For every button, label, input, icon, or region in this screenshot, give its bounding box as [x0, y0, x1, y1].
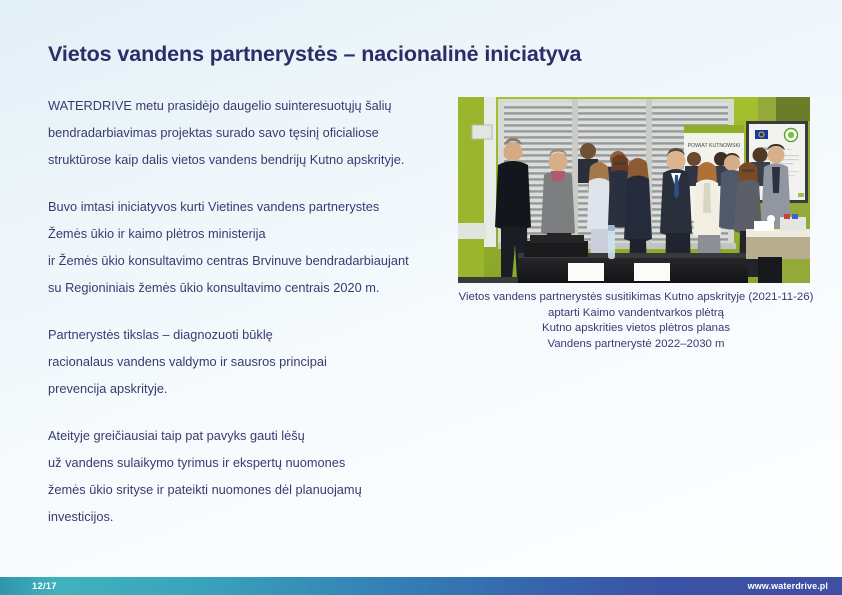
text-line: už vandens sulaikymo tyrimus ir ekspertų… — [48, 449, 448, 476]
text-line: struktūrose kaip dalis vietos vandens be… — [48, 146, 448, 173]
body-text-column: WATERDRIVE metu prasidėjo daugelio suint… — [48, 92, 448, 530]
text-line: WATERDRIVE metu prasidėjo daugelio suint… — [48, 92, 448, 119]
paragraph-1: WATERDRIVE metu prasidėjo daugelio suint… — [48, 92, 448, 173]
text-line: racionalaus vandens valdymo ir sausros p… — [48, 348, 448, 375]
text-line: prevencija apskrityje. — [48, 375, 448, 402]
text-line: Partnerystės tikslas – diagnozuoti būklę — [48, 321, 448, 348]
slide-footer: 12/17 www.waterdrive.pl — [0, 577, 842, 595]
text-line: žemės ūkio srityse ir pateikti nuomones … — [48, 476, 448, 503]
page-title: Vietos vandens partnerystės – nacionalin… — [48, 42, 768, 68]
paragraph-2: Buvo imtasi iniciatyvos kurti Vietines v… — [48, 193, 448, 301]
text-line: Žemės ūkio ir kaimo plėtros ministerija — [48, 220, 448, 247]
photo-canvas: POWIAT KUTNOWSKI Operacja pn. .... — [458, 97, 810, 283]
text-line: ir Žemės ūkio konsultavimo centras Brvin… — [48, 247, 448, 274]
photo-illustration: POWIAT KUTNOWSKI Operacja pn. .... — [458, 97, 810, 283]
text-line: Buvo imtasi iniciatyvos kurti Vietines v… — [48, 193, 448, 220]
text-line: investicijos. — [48, 503, 448, 530]
caption-line: Vandens partnerystė 2022–2030 m — [430, 337, 842, 353]
caption-line: Kutno apskrities vietos plėtros planas — [430, 321, 842, 337]
text-line: Ateityje greičiausiai taip pat pavyks ga… — [48, 422, 448, 449]
presentation-slide: Vietos vandens partnerystės – nacionalin… — [0, 0, 842, 595]
paragraph-4: Ateityje greičiausiai taip pat pavyks ga… — [48, 422, 448, 530]
text-line: su Regioniniais žemės ūkio konsultavimo … — [48, 274, 448, 301]
text-line: bendradarbiavimas projektas surado savo … — [48, 119, 448, 146]
page-number: 12/17 — [32, 581, 57, 592]
caption-line: Vietos vandens partnerystės susitikimas … — [430, 290, 842, 306]
photo-caption: Vietos vandens partnerystės susitikimas … — [430, 290, 842, 352]
caption-line: aptarti Kaimo vandentvarkos plėtrą — [430, 306, 842, 322]
svg-text:POWIAT KUTNOWSKI: POWIAT KUTNOWSKI — [688, 143, 741, 149]
meeting-photo: POWIAT KUTNOWSKI Operacja pn. .... — [458, 97, 810, 283]
footer-website-link[interactable]: www.waterdrive.pl — [748, 581, 828, 591]
paragraph-3: Partnerystės tikslas – diagnozuoti būklę… — [48, 321, 448, 402]
